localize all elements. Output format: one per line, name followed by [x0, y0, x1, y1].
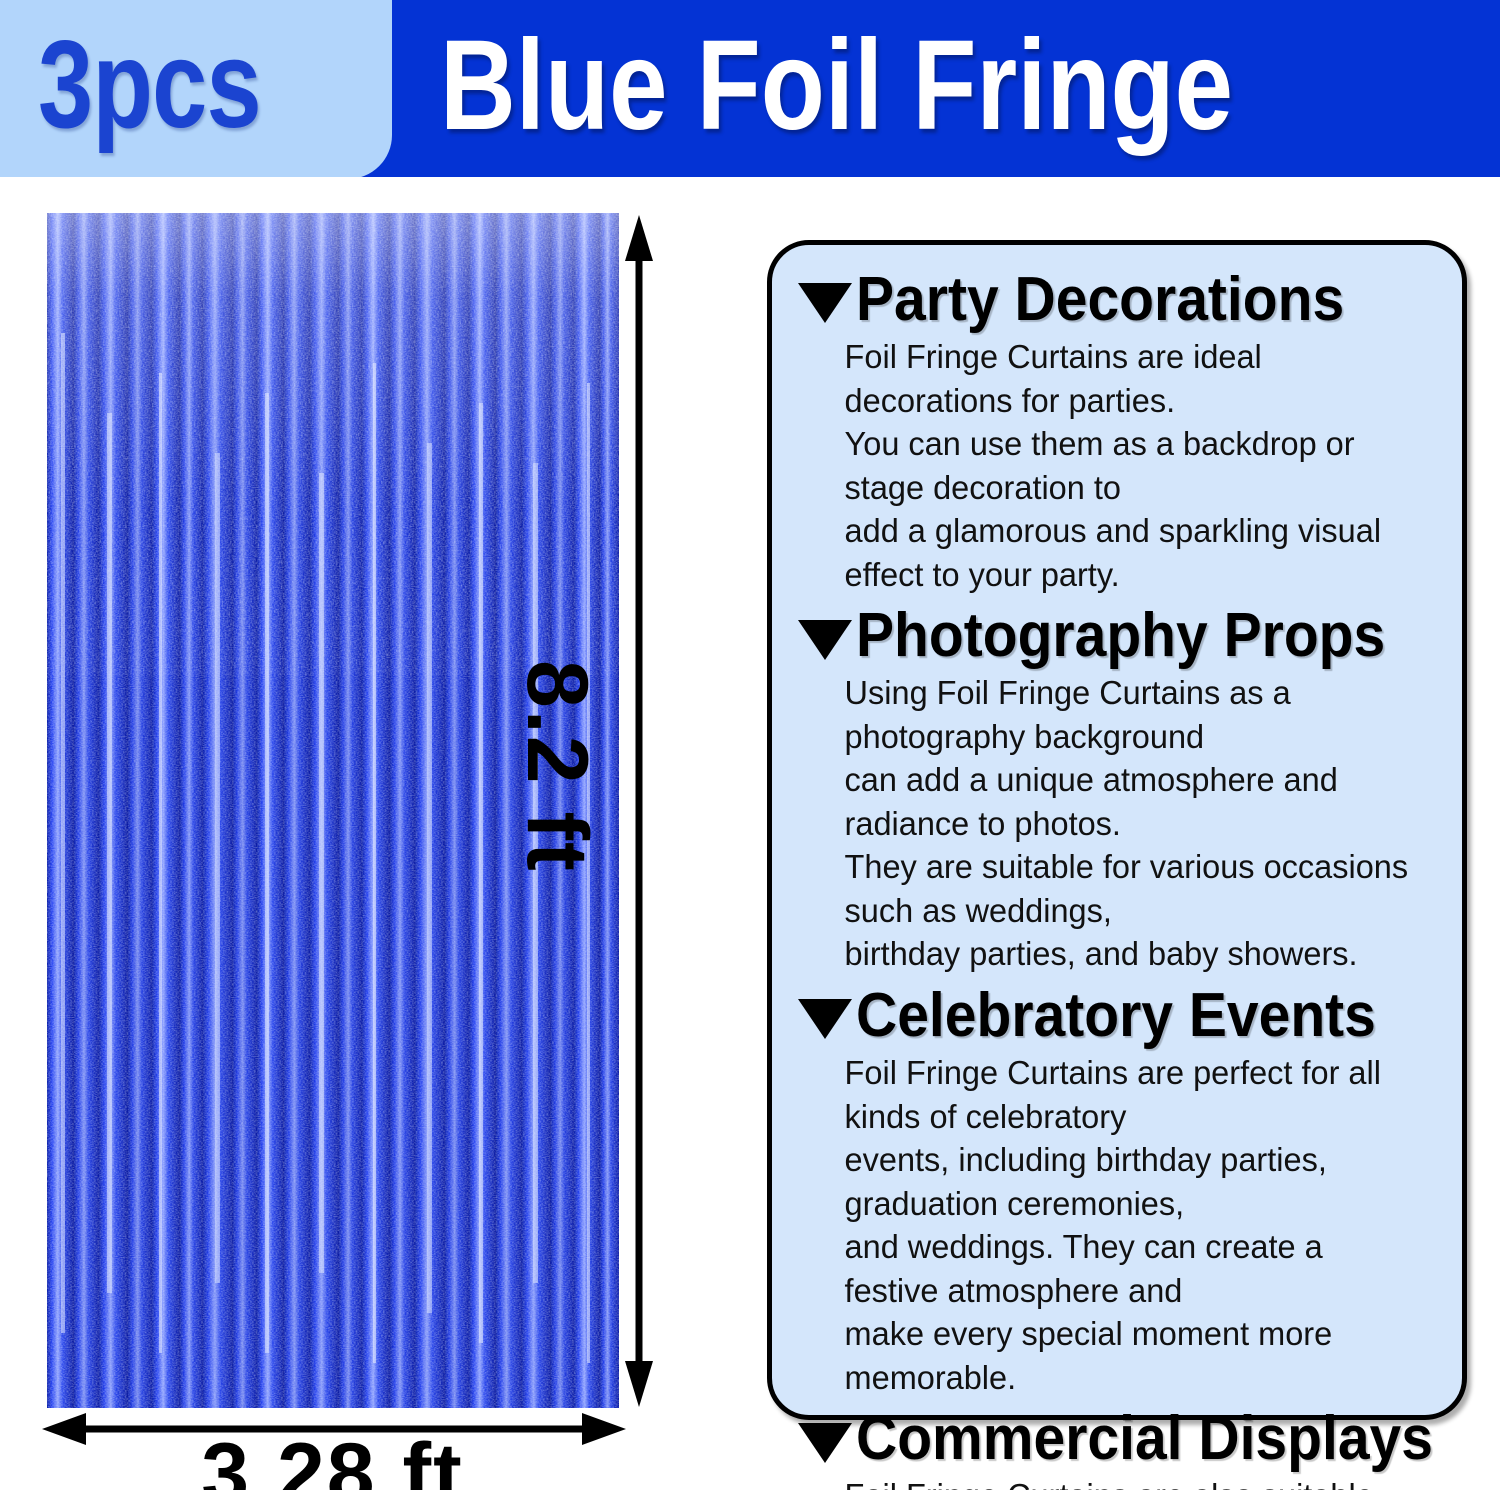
- product-infographic: 3pcs Blue Foil Fringe: [0, 0, 1500, 1490]
- feature-heading: Photography Props: [798, 603, 1436, 670]
- feature-title: Commercial Displays: [856, 1406, 1433, 1473]
- product-title: Blue Foil Fringe: [440, 12, 1233, 160]
- feature-body: Using Foil Fringe Curtains as a photogra…: [798, 672, 1417, 977]
- feature-title: Party Decorations: [856, 267, 1344, 334]
- feature-item: Party Decorations Foil Fringe Curtains a…: [798, 267, 1436, 597]
- feature-heading: Celebratory Events: [798, 983, 1436, 1050]
- triangle-down-icon: [798, 1423, 852, 1463]
- triangle-down-icon: [798, 283, 852, 323]
- feature-item: Celebratory Events Foil Fringe Curtains …: [798, 983, 1436, 1400]
- feature-heading: Party Decorations: [798, 267, 1436, 334]
- triangle-down-icon: [798, 620, 852, 660]
- feature-body: Foil Fringe Curtains are perfect for all…: [798, 1052, 1417, 1400]
- feature-panel: Party Decorations Foil Fringe Curtains a…: [767, 240, 1467, 1420]
- quantity-label: 3pcs: [38, 14, 261, 158]
- feature-body: Foil Fringe Curtains are ideal decoratio…: [798, 336, 1417, 597]
- feature-title: Photography Props: [856, 603, 1385, 670]
- feature-heading: Commercial Displays: [798, 1406, 1436, 1473]
- triangle-down-icon: [798, 999, 852, 1039]
- height-dimension-arrow: [624, 213, 654, 1409]
- feature-item: Photography Props Using Foil Fringe Curt…: [798, 603, 1436, 977]
- feature-body: Foil Fringe Curtains are also suitable f…: [798, 1475, 1417, 1490]
- width-label: 3.28 ft: [0, 1425, 665, 1490]
- feature-item: Commercial Displays Foil Fringe Curtains…: [798, 1406, 1436, 1490]
- header-banner: 3pcs Blue Foil Fringe: [0, 0, 1500, 177]
- height-label: 8.2 ft: [507, 660, 606, 960]
- feature-title: Celebratory Events: [856, 983, 1376, 1050]
